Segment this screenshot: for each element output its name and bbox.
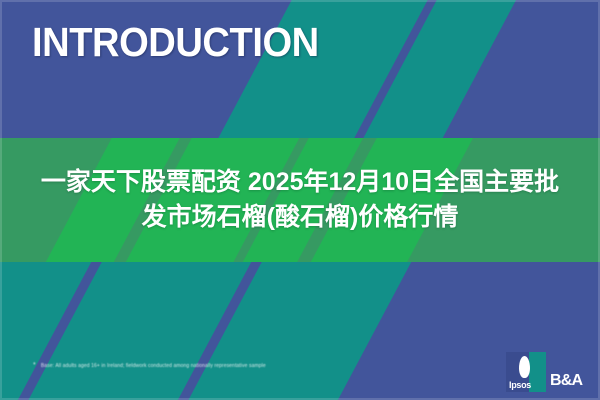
- logo-droplet-icon: [519, 356, 530, 378]
- ipsos-logo-mark: Ipsos: [506, 352, 546, 392]
- article-title: 一家天下股票配资 2025年12月10日全国主要批 发市场石榴(酸石榴)价格行情: [0, 138, 600, 262]
- ipsos-ba-logo: Ipsos B&A: [506, 352, 582, 392]
- article-title-line-1: 一家天下股票配资 2025年12月10日全国主要批: [41, 168, 559, 197]
- diagonal-stripe-teal: [0, 262, 197, 400]
- footnote-text: Base: All adults aged 16+ in Ireland; fi…: [41, 363, 266, 369]
- logo-brand-ba: B&A: [550, 372, 582, 392]
- article-title-line-2: 发市场石榴(酸石榴)价格行情: [142, 203, 459, 232]
- diagonal-stripe-teal: [0, 262, 517, 400]
- diagonal-stripe-teal: [0, 262, 357, 400]
- introduction-banner: INTRODUCTION 一家天下股票配资 2025年12月10日全国主要批 发…: [0, 0, 600, 400]
- footnote: * Base: All adults aged 16+ in Ireland; …: [33, 362, 266, 369]
- logo-wordmark: Ipsos: [509, 380, 531, 390]
- logo-teal-block: [529, 352, 546, 392]
- footnote-marker-icon: *: [33, 362, 36, 369]
- page-title: INTRODUCTION: [32, 22, 319, 63]
